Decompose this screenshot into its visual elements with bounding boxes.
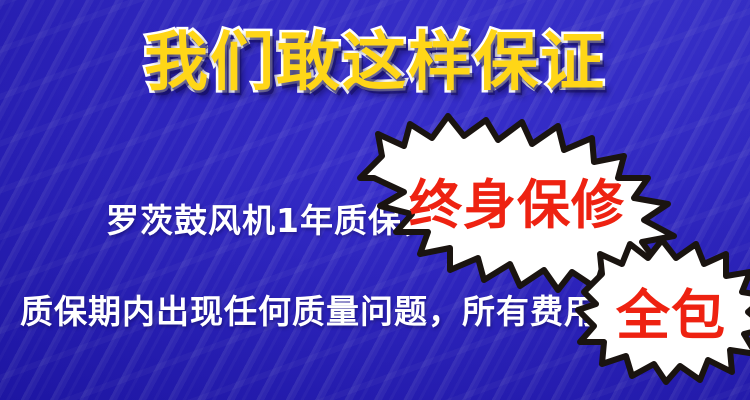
starburst-label-all-inclusive: 全包 (578, 238, 750, 382)
page-title: 我们敢这样保证 (0, 30, 750, 97)
guarantee-line-2: 质保期内出现任何质量问题，所有费用工厂 (20, 285, 666, 333)
promo-banner: 我们敢这样保证 罗茨鼓风机1年质保， 质保期内出现任何质量问题，所有费用工厂 终… (0, 0, 750, 400)
